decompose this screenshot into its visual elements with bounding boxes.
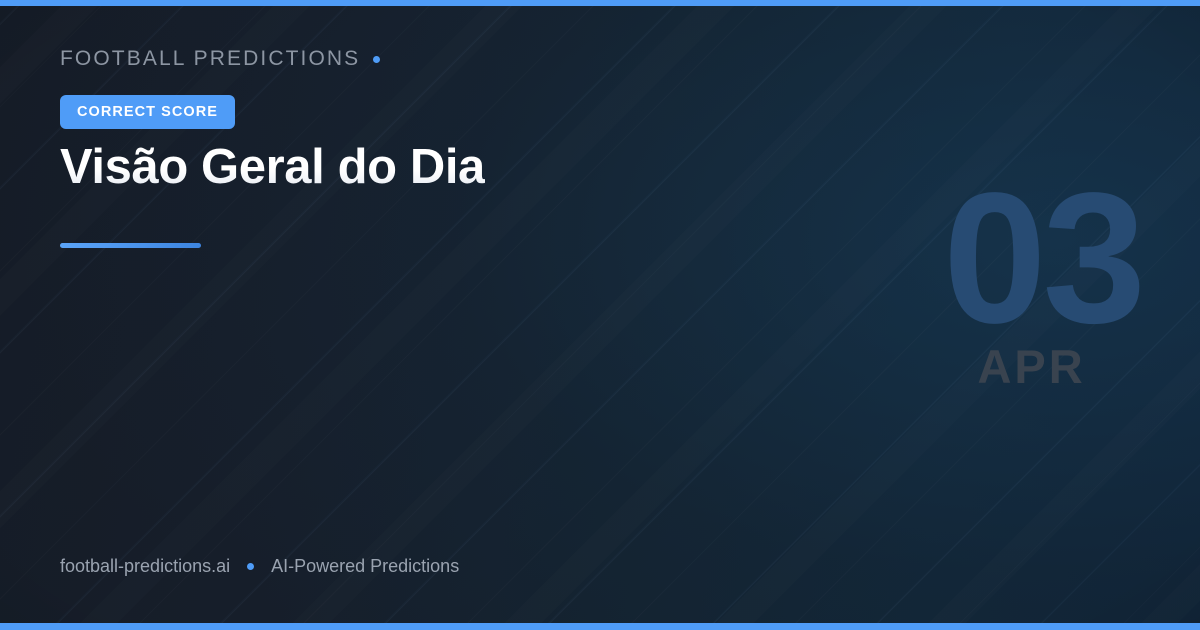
eyebrow-label: FOOTBALL PREDICTIONS bbox=[60, 47, 360, 71]
date-day: 03 bbox=[943, 186, 1142, 331]
bullet-dot-icon bbox=[373, 56, 380, 63]
social-share-banner: 03 APR FOOTBALL PREDICTIONS CORRECT SCOR… bbox=[0, 0, 1200, 630]
footer-site-url: football-predictions.ai bbox=[60, 556, 230, 577]
footer-tagline: AI-Powered Predictions bbox=[271, 556, 459, 577]
title-underline-rule bbox=[60, 243, 201, 248]
category-badge: CORRECT SCORE bbox=[60, 95, 235, 129]
banner-content: FOOTBALL PREDICTIONS CORRECT SCORE Visão… bbox=[60, 0, 920, 630]
date-block: 03 APR bbox=[943, 186, 1142, 390]
page-title: Visão Geral do Dia bbox=[60, 139, 485, 195]
footer: football-predictions.ai AI-Powered Predi… bbox=[60, 556, 459, 577]
bullet-dot-icon bbox=[247, 563, 254, 570]
eyebrow: FOOTBALL PREDICTIONS bbox=[60, 47, 380, 71]
